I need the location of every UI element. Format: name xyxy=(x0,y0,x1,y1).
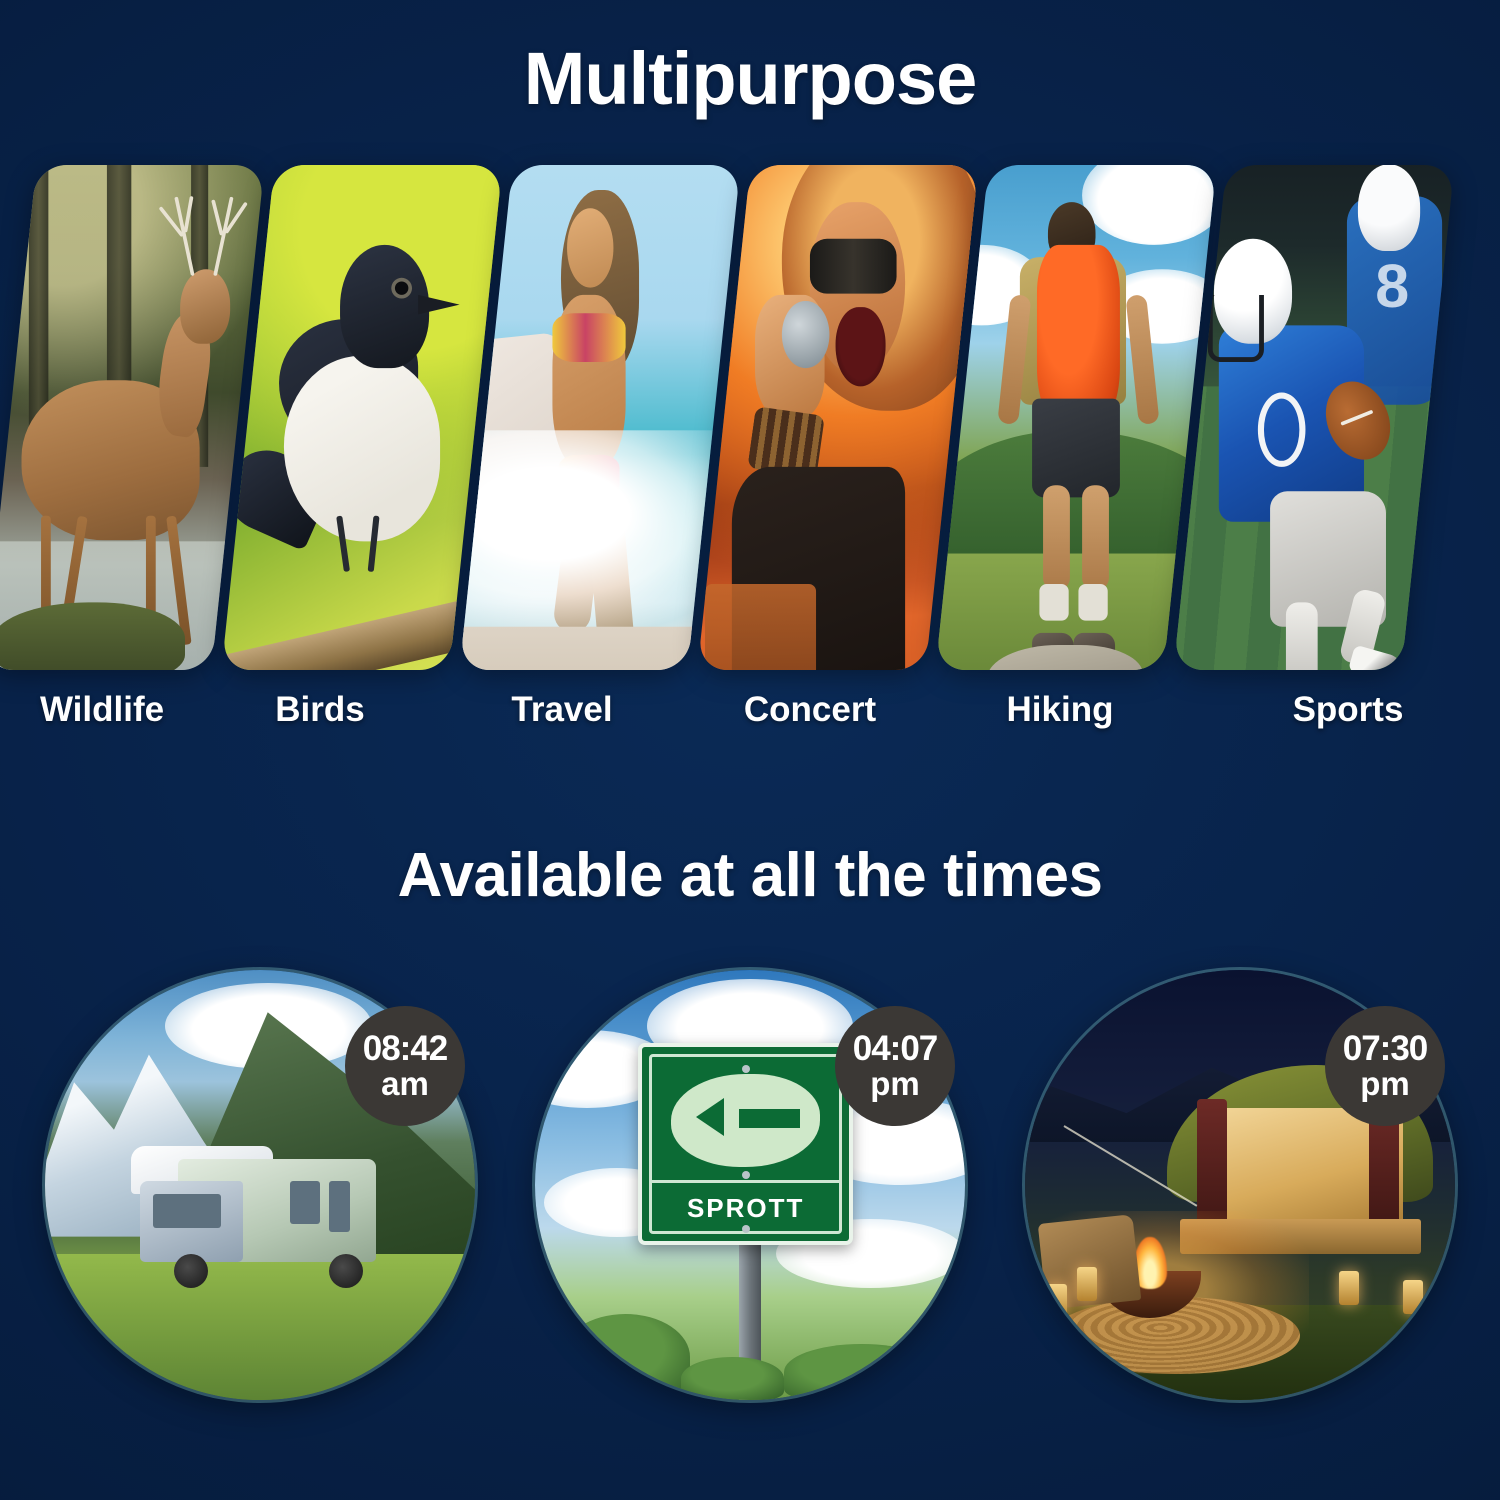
page-title: Multipurpose xyxy=(0,36,1500,121)
section-title: Available at all the times xyxy=(0,840,1500,911)
time-value: 04:07 xyxy=(853,1031,938,1067)
time-meridiem: pm xyxy=(870,1067,920,1101)
microphone-icon xyxy=(782,300,829,368)
category-panel-sports[interactable]: 8 xyxy=(1173,165,1454,670)
category-label-sports: Sports xyxy=(1218,690,1478,730)
birds-photo xyxy=(223,165,501,670)
category-label-birds: Birds xyxy=(190,690,450,730)
category-panel-concert[interactable] xyxy=(697,165,978,670)
road-sign-text: SPROTT xyxy=(642,1193,849,1224)
time-meridiem: pm xyxy=(1360,1067,1410,1101)
time-value: 08:42 xyxy=(363,1031,448,1067)
wildlife-photo xyxy=(0,165,263,670)
left-arrow-icon xyxy=(696,1098,800,1141)
category-panel-hiking[interactable] xyxy=(935,165,1216,670)
category-label-travel: Travel xyxy=(432,690,692,730)
category-panel-strip: 8 xyxy=(0,165,1500,675)
category-panel-travel[interactable] xyxy=(459,165,740,670)
category-label-hiking: Hiking xyxy=(930,690,1190,730)
time-badge-evening: 07:30 pm xyxy=(1325,1006,1445,1126)
time-card-morning[interactable]: 08:42 am xyxy=(45,970,475,1400)
road-sign-board: SPROTT xyxy=(638,1043,853,1245)
time-circle-row: 08:42 am xyxy=(0,970,1500,1430)
sports-photo: 8 xyxy=(1175,165,1453,670)
category-panel-birds[interactable] xyxy=(221,165,502,670)
multipurpose-section: Multipurpose xyxy=(0,0,1500,800)
concert-photo xyxy=(699,165,977,670)
time-card-afternoon[interactable]: SPROTT 04:07 pm xyxy=(535,970,965,1400)
hiking-photo xyxy=(937,165,1215,670)
time-card-evening[interactable]: 07:30 pm xyxy=(1025,970,1455,1400)
time-badge-morning: 08:42 am xyxy=(345,1006,465,1126)
category-panel-wildlife[interactable] xyxy=(0,165,265,670)
time-badge-afternoon: 04:07 pm xyxy=(835,1006,955,1126)
category-label-concert: Concert xyxy=(680,690,940,730)
time-value: 07:30 xyxy=(1343,1031,1428,1067)
time-meridiem: am xyxy=(381,1067,429,1101)
availability-section: Available at all the times xyxy=(0,800,1500,1500)
travel-photo xyxy=(461,165,739,670)
